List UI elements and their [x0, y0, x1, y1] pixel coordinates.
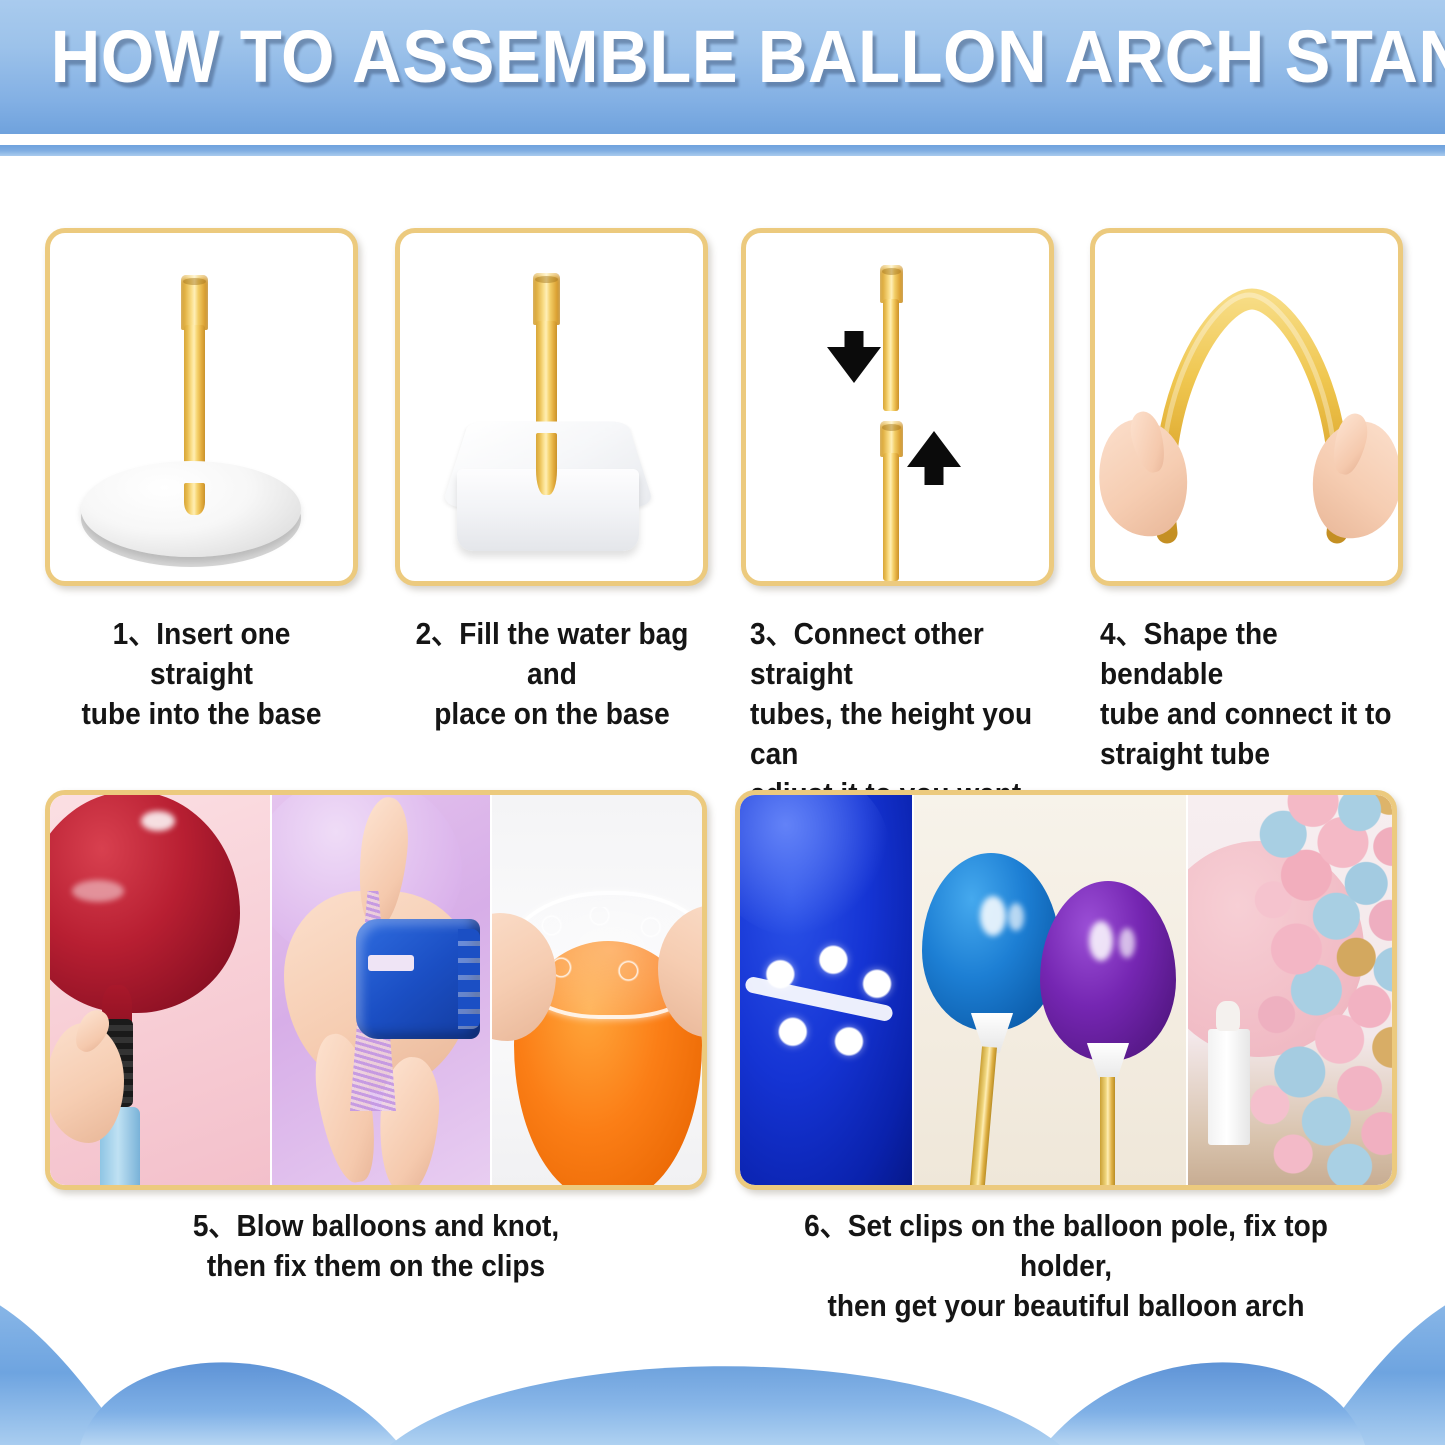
- tube-top-cap: [181, 275, 208, 330]
- purple-balloon: [1040, 881, 1176, 1061]
- upper-tube-cap: [880, 265, 903, 303]
- tile-blue-balloons-with-white-clips: [740, 795, 912, 1185]
- blue-balloon: [922, 853, 1060, 1031]
- step-5-caption-line-2: then fix them on the clips: [71, 1246, 680, 1286]
- step-5-caption-line-1: 5、Blow balloons and knot,: [71, 1206, 680, 1246]
- purple-balloon-gold-pole: [1100, 1077, 1115, 1185]
- straight-tube-lower: [184, 483, 205, 515]
- step-3-caption: 3、Connect other straight tubes, the heig…: [750, 614, 1054, 814]
- step-1-caption-line-2: tube into the base: [58, 694, 346, 734]
- tile-finished-pink-blue-balloon-garland-arch: [1188, 795, 1392, 1185]
- step-6-image-panel: [735, 790, 1397, 1190]
- tube-top-cap: [533, 273, 560, 325]
- step-6-caption-line-1: 6、Set clips on the balloon pole, fix top…: [755, 1206, 1377, 1286]
- step-2-image-panel: [395, 228, 708, 586]
- tile-blue-and-purple-balloons-on-gold-poles: [914, 795, 1186, 1185]
- step-2-illustration: [400, 233, 703, 581]
- step-1-image-panel: [45, 228, 358, 586]
- step-2-caption-line-1: 2、Fill the water bag and: [405, 614, 699, 694]
- blue-knot-tool-teeth: [458, 929, 480, 1029]
- step-1-caption: 1、Insert one straight tube into the base: [58, 614, 346, 734]
- lower-tube-cap: [880, 421, 903, 457]
- step-1-illustration: [50, 233, 353, 581]
- step-3-illustration: [746, 233, 1049, 581]
- lower-tube-shaft: [883, 453, 899, 581]
- arrow-down-icon: [826, 331, 882, 383]
- tile-blue-knot-tying-tool: [272, 795, 490, 1185]
- step-3-caption-line-2: tubes, the height you can: [750, 694, 1054, 774]
- blue-balloon-highlight: [740, 795, 890, 937]
- arrow-up-icon: [906, 431, 962, 485]
- balloon-garland-cluster: [1250, 795, 1392, 1185]
- upper-tube-shaft: [883, 299, 899, 411]
- step-4-caption-line-2: tube and connect it to: [1100, 694, 1404, 734]
- step-2-caption-line-2: place on the base: [405, 694, 699, 734]
- step-5-collage: [50, 795, 702, 1185]
- tile-red-balloon-with-hand-pump: [50, 795, 270, 1185]
- blue-balloon-gold-pole: [969, 1046, 997, 1185]
- step-6-collage: [740, 795, 1392, 1185]
- deer-figurine: [1216, 1001, 1240, 1031]
- step-5-image-panel: [45, 790, 707, 1190]
- step-5-caption: 5、Blow balloons and knot, then fix them …: [71, 1206, 680, 1286]
- step-4-caption: 4、Shape the bendable tube and connect it…: [1100, 614, 1404, 774]
- step-4-image-panel: [1090, 228, 1403, 586]
- step-3-caption-line-1: 3、Connect other straight: [750, 614, 1054, 694]
- page-header: HOW TO ASSEMBLE BALLON ARCH STAND: [0, 0, 1445, 134]
- tile-clear-clip-strip-on-orange-balloon: [492, 795, 702, 1185]
- bottom-decorative-waves: [0, 1285, 1445, 1445]
- page-title: HOW TO ASSEMBLE BALLON ARCH STAND: [51, 14, 1395, 99]
- red-balloon: [50, 795, 240, 1013]
- step-4-illustration: [1095, 233, 1398, 581]
- step-4-caption-line-1: 4、Shape the bendable: [1100, 614, 1404, 694]
- step-3-image-panel: [741, 228, 1054, 586]
- step-4-caption-line-3: straight tube: [1100, 734, 1404, 774]
- white-pedestal: [1208, 1029, 1250, 1145]
- straight-tube-into-bag: [536, 433, 557, 495]
- step-2-caption: 2、Fill the water bag and place on the ba…: [405, 614, 699, 734]
- step-1-caption-line-1: 1、Insert one straight: [58, 614, 346, 694]
- header-divider-stripe: [0, 145, 1445, 156]
- blue-knot-tool-slot: [368, 955, 414, 971]
